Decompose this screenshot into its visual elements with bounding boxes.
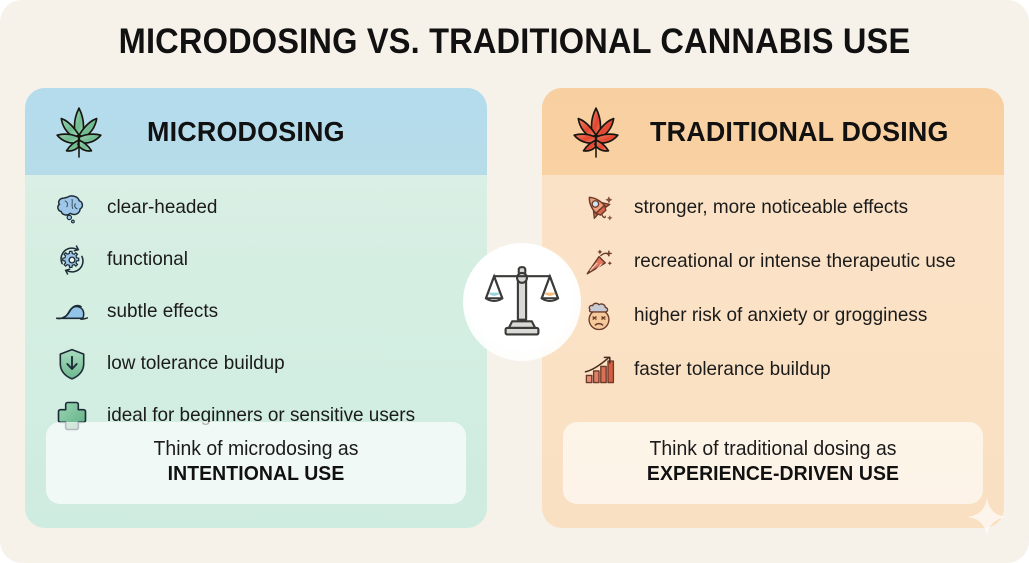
balance-scale-icon — [481, 259, 563, 346]
gear-refresh-icon — [53, 241, 91, 279]
microdosing-card: MICRODOSING — [25, 88, 487, 528]
brain-icon — [53, 189, 91, 227]
traditional-dosing-bullet-list: stronger, more noticeable effects — [542, 175, 1004, 405]
list-item: subtle effects — [53, 293, 467, 331]
microdosing-card-header: MICRODOSING — [25, 88, 487, 175]
rocket-icon — [580, 189, 618, 227]
traditional-dosing-footer-line1: Think of traditional dosing as — [579, 438, 967, 461]
microdosing-footer-line1: Think of microdosing as — [62, 438, 450, 461]
traditional-dosing-footer-box: Think of traditional dosing as EXPERIENC… — [563, 422, 983, 504]
anxious-face-cloud-icon — [580, 297, 618, 335]
list-item-label: recreational or intense therapeutic use — [634, 250, 956, 274]
microdosing-card-title: MICRODOSING — [147, 116, 345, 148]
sparkle-icon — [966, 496, 1008, 538]
center-comparison-badge — [463, 243, 581, 361]
list-item: recreational or intense therapeutic use — [580, 243, 984, 281]
rising-bar-chart-icon — [580, 351, 618, 389]
traditional-dosing-card-header: TRADITIONAL DOSING — [542, 88, 1004, 175]
cannabis-leaf-green-icon — [53, 104, 105, 160]
list-item-label: faster tolerance buildup — [634, 358, 831, 382]
traditional-dosing-card-title: TRADITIONAL DOSING — [650, 116, 949, 148]
microdosing-footer-box: Think of microdosing as INTENTIONAL USE — [46, 422, 466, 504]
list-item-label: stronger, more noticeable effects — [634, 196, 908, 220]
cannabis-leaf-red-icon — [570, 104, 622, 160]
list-item: stronger, more noticeable effects — [580, 189, 984, 227]
list-item: functional — [53, 241, 467, 279]
wave-icon — [53, 293, 91, 331]
page-title: MICRODOSING VS. TRADITIONAL CANNABIS USE — [36, 22, 993, 62]
list-item-label: functional — [107, 248, 188, 272]
list-item: faster tolerance buildup — [580, 351, 984, 389]
traditional-dosing-card: TRADITIONAL DOSING — [542, 88, 1004, 528]
infographic-canvas: MICRODOSING VS. TRADITIONAL CANNABIS USE — [0, 0, 1029, 563]
list-item: clear-headed — [53, 189, 467, 227]
party-popper-icon — [580, 243, 618, 281]
microdosing-footer-line2: INTENTIONAL USE — [62, 463, 450, 486]
list-item-label: low tolerance buildup — [107, 352, 285, 376]
list-item: higher risk of anxiety or grogginess — [580, 297, 984, 335]
traditional-dosing-footer-line2: EXPERIENCE-DRIVEN USE — [579, 463, 967, 486]
shield-down-arrow-icon — [53, 345, 91, 383]
list-item-label: subtle effects — [107, 300, 218, 324]
microdosing-bullet-list: clear-headed — [25, 175, 487, 449]
list-item: low tolerance buildup — [53, 345, 467, 383]
list-item-label: higher risk of anxiety or grogginess — [634, 304, 927, 328]
list-item-label: clear-headed — [107, 196, 217, 220]
